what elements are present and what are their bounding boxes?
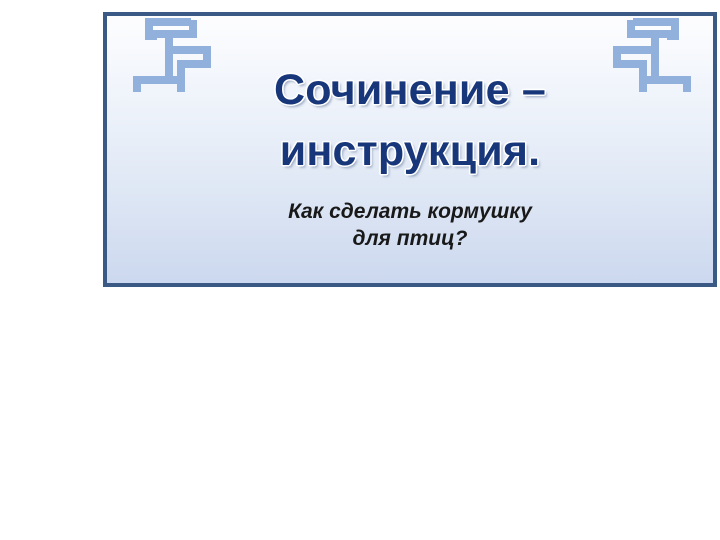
- slide-title: Сочинение – инструкция.: [107, 60, 713, 182]
- slide-canvas: Сочинение – инструкция. Как сделать корм…: [0, 0, 720, 540]
- title-frame: Сочинение – инструкция. Как сделать корм…: [103, 12, 717, 287]
- title-text-block: Сочинение – инструкция. Как сделать корм…: [107, 60, 713, 252]
- slide-subtitle: Как сделать кормушку для птиц?: [107, 198, 713, 252]
